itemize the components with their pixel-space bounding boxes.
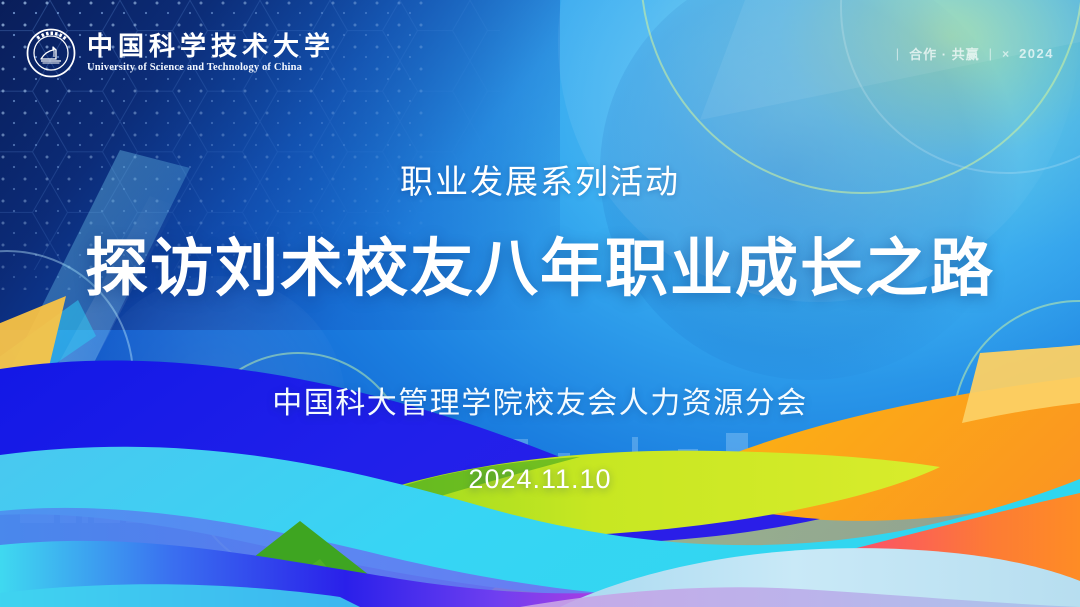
event-poster: 中国科学技术大学 University of Science and Techn… — [0, 0, 1080, 607]
tagline-bar-left: | — [896, 46, 900, 61]
poster-header: 中国科学技术大学 University of Science and Techn… — [0, 0, 1080, 104]
brand-name-en: University of Science and Technology of … — [87, 62, 335, 73]
tagline-year: 2024 — [1019, 46, 1054, 61]
tagline-bar-right: | — [989, 46, 993, 61]
tagline-badge: | 合作 · 共赢 | × 2024 — [896, 44, 1054, 63]
tagline-cross-icon: × — [1002, 47, 1010, 61]
tagline-text: 合作 · 共赢 — [909, 44, 980, 63]
university-brand-lockup: 中国科学技术大学 University of Science and Techn… — [26, 28, 335, 78]
multicolor-wave-band — [0, 307, 1080, 607]
brand-name-cn: 中国科学技术大学 — [87, 33, 335, 60]
ustc-crest-icon — [26, 28, 76, 78]
